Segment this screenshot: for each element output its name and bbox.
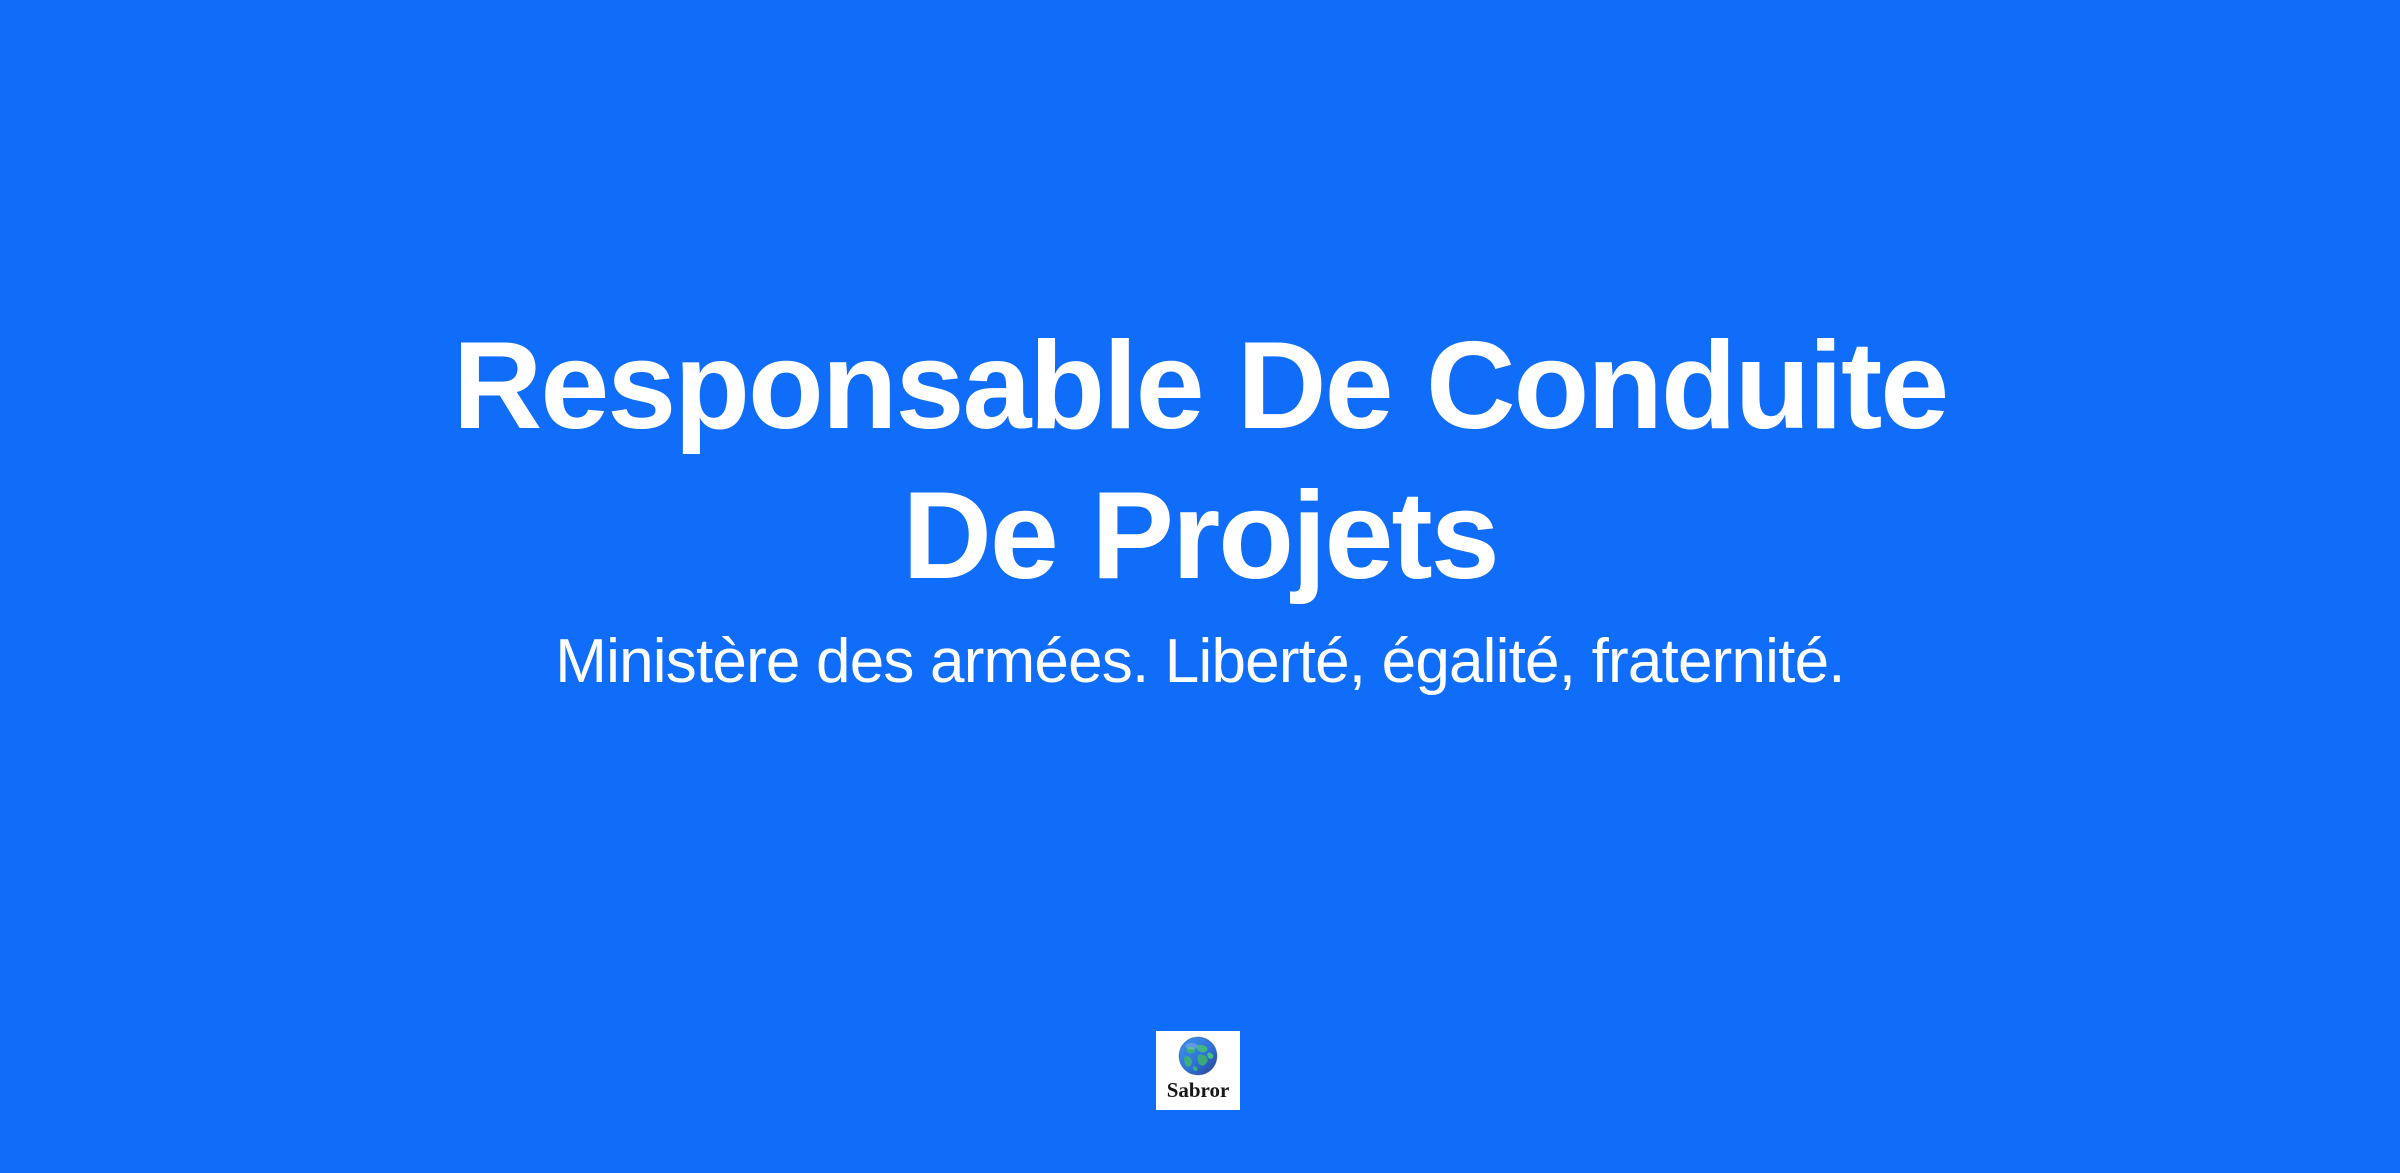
- hero-text-block: Responsable De Conduite De Projets Minis…: [380, 311, 2020, 699]
- brand-name: Sabror: [1167, 1078, 1230, 1102]
- hero-section: Responsable De Conduite De Projets Minis…: [0, 0, 2400, 1010]
- globe-icon: [1177, 1035, 1219, 1077]
- splash-screen: Responsable De Conduite De Projets Minis…: [0, 0, 2400, 1173]
- page-title: Responsable De Conduite De Projets: [380, 311, 2020, 611]
- brand-logo-card[interactable]: Sabror: [1156, 1031, 1240, 1110]
- page-subtitle: Ministère des armées. Liberté, égalité, …: [380, 625, 2020, 699]
